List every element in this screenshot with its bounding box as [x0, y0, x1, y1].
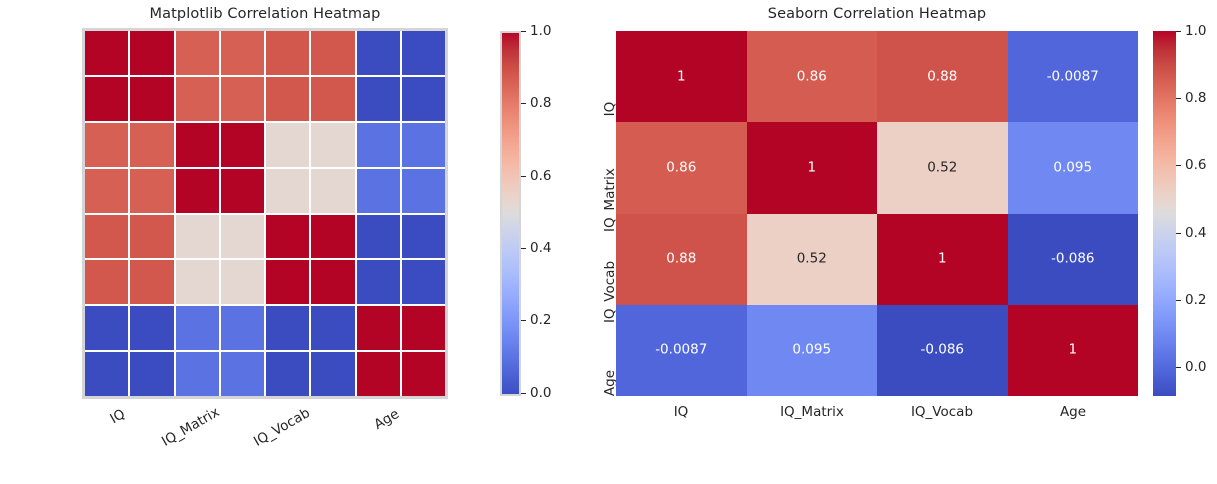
mpl-heatmap-cell[interactable]	[85, 215, 128, 259]
colorbar-tick-label: 0.6	[530, 168, 551, 184]
mpl-heatmap-cell[interactable]	[176, 215, 219, 259]
mpl-heatmap-cell[interactable]	[130, 215, 173, 259]
mpl-heatmap-cell[interactable]	[311, 215, 354, 259]
seaborn-heatmap-cell[interactable]: 0.52	[877, 122, 1008, 213]
mpl-heatmap-cell[interactable]	[266, 169, 309, 213]
seaborn-cell-value: 0.52	[747, 252, 878, 266]
mpl-heatmap-cell[interactable]	[357, 77, 400, 121]
mpl-heatmap-cell[interactable]	[85, 260, 128, 304]
colorbar-tick-label: 0.0	[530, 385, 551, 401]
mpl-heatmap-cell[interactable]	[402, 215, 445, 259]
mpl-heatmap-cell[interactable]	[266, 352, 309, 396]
mpl-heatmap-cell[interactable]	[266, 306, 309, 350]
mpl-heatmap-cell[interactable]	[176, 77, 219, 121]
colorbar-tick-mark	[1176, 233, 1181, 234]
seaborn-cell-value: -0.0087	[616, 344, 747, 358]
seaborn-heatmap-cell[interactable]: 0.095	[747, 305, 878, 396]
mpl-heatmap-cell[interactable]	[402, 352, 445, 396]
mpl-xtick-0: IQ	[68, 406, 128, 450]
mpl-xtick-3: Age	[342, 406, 402, 450]
mpl-heatmap-cell[interactable]	[130, 260, 173, 304]
mpl-heatmap-cell[interactable]	[402, 260, 445, 304]
seaborn-heatmap-cell[interactable]: -0.086	[1008, 214, 1139, 305]
mpl-heatmap-cell[interactable]	[357, 306, 400, 350]
mpl-heatmap-cell[interactable]	[266, 31, 309, 75]
matplotlib-colorbar[interactable]	[500, 31, 521, 396]
seaborn-title: Seaborn Correlation Heatmap	[616, 6, 1138, 22]
panel-matplotlib: Matplotlib Correlation Heatmap IQ IQ_Mat…	[0, 0, 600, 484]
mpl-heatmap-cell[interactable]	[402, 123, 445, 167]
mpl-heatmap-cell[interactable]	[221, 260, 264, 304]
seaborn-cell-value: 0.095	[1008, 161, 1139, 175]
seaborn-heatmap-cell[interactable]: 0.86	[616, 122, 747, 213]
mpl-heatmap-cell[interactable]	[311, 352, 354, 396]
mpl-heatmap-cell[interactable]	[357, 31, 400, 75]
colorbar-tick-label: 1.0	[1185, 23, 1206, 39]
matplotlib-title: Matplotlib Correlation Heatmap	[85, 6, 445, 22]
sns-xtick-1: IQ_Matrix	[747, 404, 877, 420]
mpl-heatmap-cell[interactable]	[357, 352, 400, 396]
colorbar-tick-mark	[521, 176, 526, 177]
mpl-colorbar-gradient	[500, 31, 521, 396]
mpl-heatmap-cell[interactable]	[357, 123, 400, 167]
colorbar-tick-label: 0.2	[1185, 292, 1206, 308]
mpl-heatmap-cell[interactable]	[130, 169, 173, 213]
seaborn-heatmap-cell[interactable]: -0.0087	[1008, 31, 1139, 122]
mpl-heatmap-cell[interactable]	[266, 123, 309, 167]
colorbar-tick-label: 0.6	[1185, 157, 1206, 173]
seaborn-heatmap-cell[interactable]: 0.88	[877, 31, 1008, 122]
mpl-heatmap-cell[interactable]	[311, 123, 354, 167]
panel-seaborn: Seaborn Correlation Heatmap IQ IQ_Matrix…	[600, 0, 1217, 484]
seaborn-heatmap-cell[interactable]: 0.86	[747, 31, 878, 122]
colorbar-tick-mark	[1176, 300, 1181, 301]
seaborn-heatmap[interactable]: 10.860.88-0.00870.8610.520.0950.880.521-…	[616, 31, 1138, 396]
mpl-heatmap-cell[interactable]	[221, 77, 264, 121]
matplotlib-heatmap[interactable]	[85, 31, 445, 396]
mpl-heatmap-cell[interactable]	[85, 123, 128, 167]
mpl-heatmap-cell[interactable]	[85, 352, 128, 396]
mpl-heatmap-cell[interactable]	[176, 260, 219, 304]
colorbar-tick-mark	[1176, 31, 1181, 32]
sns-xtick-0: IQ	[616, 404, 746, 420]
colorbar-tick-label: 0.4	[530, 240, 551, 256]
mpl-heatmap-cell[interactable]	[85, 169, 128, 213]
seaborn-heatmap-cell[interactable]: 0.095	[1008, 122, 1139, 213]
seaborn-cell-value: 1	[616, 70, 747, 84]
seaborn-cell-value: 1	[877, 252, 1008, 266]
mpl-heatmap-cell[interactable]	[221, 169, 264, 213]
mpl-heatmap-cell[interactable]	[221, 352, 264, 396]
seaborn-cell-value: 1	[1008, 344, 1139, 358]
mpl-heatmap-cell[interactable]	[176, 169, 219, 213]
seaborn-heatmap-cell[interactable]: -0.0087	[616, 305, 747, 396]
seaborn-colorbar[interactable]	[1153, 31, 1176, 396]
mpl-heatmap-cell[interactable]	[221, 306, 264, 350]
mpl-heatmap-cell[interactable]	[402, 31, 445, 75]
seaborn-cell-value: -0.086	[877, 344, 1008, 358]
colorbar-tick-label: 0.8	[530, 95, 551, 111]
seaborn-heatmap-cell[interactable]: 1	[877, 214, 1008, 305]
sns-xtick-2: IQ_Vocab	[877, 404, 1007, 420]
colorbar-tick-mark	[1176, 98, 1181, 99]
mpl-heatmap-cell[interactable]	[357, 260, 400, 304]
seaborn-cell-value: 0.86	[747, 70, 878, 84]
seaborn-cell-value: 0.095	[747, 344, 878, 358]
seaborn-cell-value: -0.086	[1008, 252, 1139, 266]
mpl-heatmap-cell[interactable]	[266, 215, 309, 259]
seaborn-cell-value: 0.52	[877, 161, 1008, 175]
mpl-heatmap-cell[interactable]	[85, 31, 128, 75]
mpl-heatmap-cell[interactable]	[85, 77, 128, 121]
mpl-heatmap-cell[interactable]	[130, 352, 173, 396]
colorbar-tick-mark	[521, 31, 526, 32]
mpl-heatmap-cell[interactable]	[266, 77, 309, 121]
seaborn-heatmap-cell[interactable]: -0.086	[877, 305, 1008, 396]
mpl-heatmap-cell[interactable]	[176, 31, 219, 75]
colorbar-tick-mark	[521, 320, 526, 321]
mpl-heatmap-cell[interactable]	[311, 260, 354, 304]
sns-colorbar-gradient	[1153, 31, 1176, 396]
mpl-heatmap-cell[interactable]	[402, 77, 445, 121]
seaborn-cell-value: 0.88	[877, 70, 1008, 84]
mpl-heatmap-cell[interactable]	[130, 31, 173, 75]
colorbar-tick-label: 1.0	[530, 23, 551, 39]
colorbar-tick-mark	[1176, 165, 1181, 166]
colorbar-tick-label: 0.0	[1185, 359, 1206, 375]
mpl-heatmap-cell[interactable]	[221, 31, 264, 75]
seaborn-heatmap-cell[interactable]: 1	[1008, 305, 1139, 396]
mpl-xtick-2: IQ_Vocab	[251, 406, 311, 450]
mpl-heatmap-cell[interactable]	[357, 215, 400, 259]
seaborn-cell-value: 1	[747, 161, 878, 175]
mpl-heatmap-cell[interactable]	[402, 169, 445, 213]
sns-xtick-3: Age	[1008, 404, 1138, 420]
mpl-heatmap-cell[interactable]	[311, 77, 354, 121]
seaborn-heatmap-cell[interactable]: 1	[747, 122, 878, 213]
mpl-heatmap-cell[interactable]	[402, 306, 445, 350]
colorbar-tick-mark	[521, 248, 526, 249]
mpl-heatmap-cell[interactable]	[130, 123, 173, 167]
colorbar-tick-label: 0.4	[1185, 225, 1206, 241]
seaborn-heatmap-cell[interactable]: 0.88	[616, 214, 747, 305]
seaborn-cell-value: -0.0087	[1008, 70, 1139, 84]
colorbar-tick-mark	[521, 103, 526, 104]
mpl-heatmap-cell[interactable]	[311, 31, 354, 75]
seaborn-heatmap-cell[interactable]: 0.52	[747, 214, 878, 305]
colorbar-tick-label: 0.8	[1185, 90, 1206, 106]
mpl-heatmap-cell[interactable]	[311, 306, 354, 350]
seaborn-cell-value: 0.86	[616, 161, 747, 175]
mpl-heatmap-cell[interactable]	[266, 260, 309, 304]
colorbar-tick-mark	[521, 393, 526, 394]
colorbar-tick-label: 0.2	[530, 312, 551, 328]
mpl-heatmap-cell[interactable]	[176, 306, 219, 350]
mpl-heatmap-cell[interactable]	[311, 169, 354, 213]
colorbar-tick-mark	[1176, 367, 1181, 368]
mpl-heatmap-cell[interactable]	[130, 77, 173, 121]
mpl-heatmap-cell[interactable]	[130, 306, 173, 350]
figure-canvas: Matplotlib Correlation Heatmap IQ IQ_Mat…	[0, 0, 1217, 484]
mpl-heatmap-cell[interactable]	[221, 215, 264, 259]
mpl-heatmap-cell[interactable]	[85, 306, 128, 350]
mpl-heatmap-cell[interactable]	[221, 123, 264, 167]
mpl-xtick-1: IQ_Matrix	[159, 406, 219, 450]
mpl-heatmap-cell[interactable]	[357, 169, 400, 213]
mpl-heatmap-cell[interactable]	[176, 352, 219, 396]
seaborn-heatmap-cell[interactable]: 1	[616, 31, 747, 122]
mpl-heatmap-cell[interactable]	[176, 123, 219, 167]
seaborn-cell-value: 0.88	[616, 252, 747, 266]
